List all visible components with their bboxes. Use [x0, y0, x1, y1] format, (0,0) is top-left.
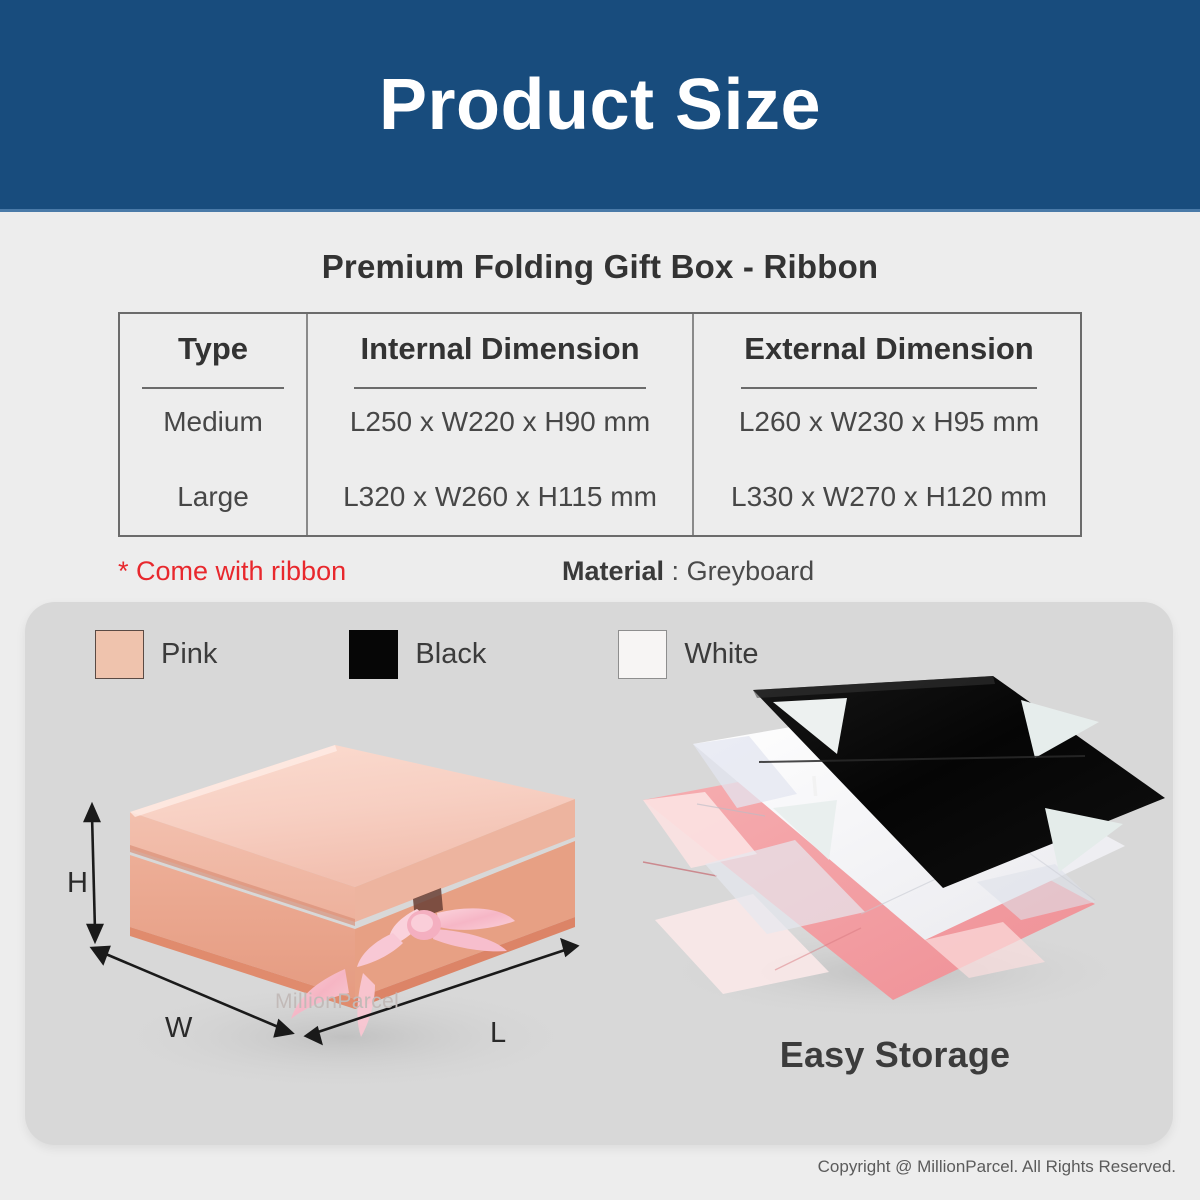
product-photo-gift-box: MillionParcel H W L — [45, 737, 625, 1137]
column-header-type: Type — [120, 314, 307, 384]
dimension-label-width: W — [165, 1012, 192, 1045]
cell-external-large: L330 x W270 x H120 mm — [693, 460, 1084, 536]
banner-underline — [0, 209, 1200, 212]
product-showcase-panel: Pink Black White — [25, 602, 1173, 1145]
ribbon-note: * Come with ribbon — [118, 556, 346, 587]
copyright-text: Copyright @ MillionParcel. All Rights Re… — [818, 1157, 1176, 1177]
specification-table: Type Internal Dimension External Dimensi… — [118, 312, 1082, 537]
page-title: Product Size — [379, 69, 821, 141]
product-photo-easy-storage: Easy Storage — [615, 672, 1173, 1072]
dimension-label-height: H — [67, 867, 88, 900]
header-underline — [354, 387, 646, 389]
color-swatch-pink-icon — [95, 630, 144, 679]
table-row: Medium L250 x W220 x H90 mm L260 x W230 … — [120, 384, 1084, 460]
column-header-external-dimension: External Dimension — [693, 314, 1084, 384]
legend-item-black: Black — [349, 630, 486, 679]
material-note: Material : Greyboard — [562, 556, 814, 587]
cell-external-medium: L260 x W230 x H95 mm — [693, 384, 1084, 460]
page-header-banner: Product Size — [0, 0, 1200, 209]
cell-type-medium: Medium — [120, 384, 307, 460]
dimension-label-length: L — [490, 1017, 506, 1050]
material-separator: : — [664, 556, 687, 586]
cell-internal-large: L320 x W260 x H115 mm — [307, 460, 693, 536]
product-name-heading: Premium Folding Gift Box - Ribbon — [0, 248, 1200, 286]
color-swatch-black-icon — [349, 630, 398, 679]
legend-item-pink: Pink — [95, 630, 217, 679]
material-value: Greyboard — [687, 556, 815, 586]
legend-label-black: Black — [415, 638, 486, 671]
watermark-text: MillionParcel — [275, 990, 399, 1014]
cell-type-large: Large — [120, 460, 307, 536]
column-header-internal-dimension: Internal Dimension — [307, 314, 693, 384]
gift-box-illustration — [45, 737, 625, 1137]
folded-boxes-illustration — [615, 672, 1173, 1072]
legend-label-white: White — [684, 638, 758, 671]
easy-storage-caption: Easy Storage — [615, 1034, 1173, 1076]
header-underline — [142, 387, 283, 389]
legend-label-pink: Pink — [161, 638, 217, 671]
material-label: Material — [562, 556, 664, 586]
table-row: Large L320 x W260 x H115 mm L330 x W270 … — [120, 460, 1084, 536]
cell-internal-medium: L250 x W220 x H90 mm — [307, 384, 693, 460]
table-header-row: Type Internal Dimension External Dimensi… — [120, 314, 1084, 384]
header-underline — [741, 387, 1037, 389]
